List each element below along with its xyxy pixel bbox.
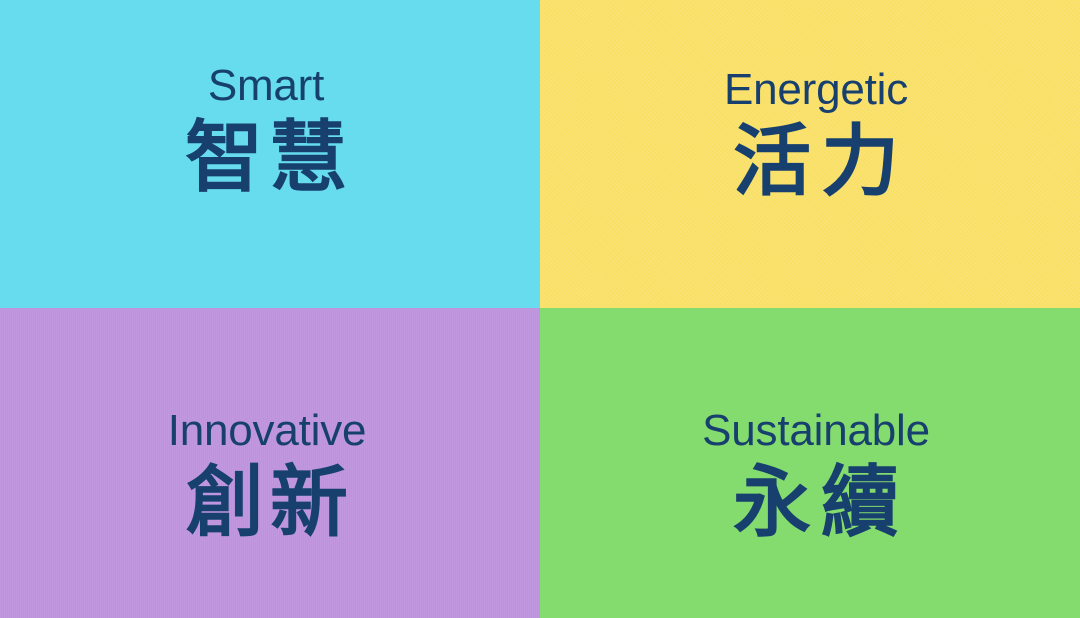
panel-smart-chinese-label: 智慧 — [185, 118, 353, 196]
panel-energetic-english-label: Energetic — [724, 68, 908, 112]
panel-innovative-chinese-label: 創新 — [186, 463, 354, 541]
panel-smart: Smart 智慧 — [0, 0, 540, 308]
panel-innovative-english-label: Innovative — [168, 409, 367, 453]
panel-sustainable-english-label: Sustainable — [702, 409, 930, 453]
panel-sustainable: Sustainable 永續 — [540, 308, 1080, 618]
panel-energetic: Energetic 活力 — [540, 0, 1080, 308]
panel-smart-text-stack: Smart 智慧 — [179, 64, 353, 196]
panel-sustainable-chinese-label: 永續 — [733, 463, 909, 541]
brand-values-grid: Smart 智慧 Energetic 活力 Innovative 創新 Sust… — [0, 0, 1080, 618]
panel-energetic-chinese-label: 活力 — [733, 122, 909, 200]
panel-sustainable-text-stack: Sustainable 永續 — [702, 409, 930, 541]
panel-innovative: Innovative 創新 — [0, 308, 540, 618]
panel-innovative-text-stack: Innovative 創新 — [168, 409, 367, 541]
panel-smart-english-label: Smart — [208, 64, 324, 108]
panel-energetic-text-stack: Energetic 活力 — [723, 68, 909, 200]
